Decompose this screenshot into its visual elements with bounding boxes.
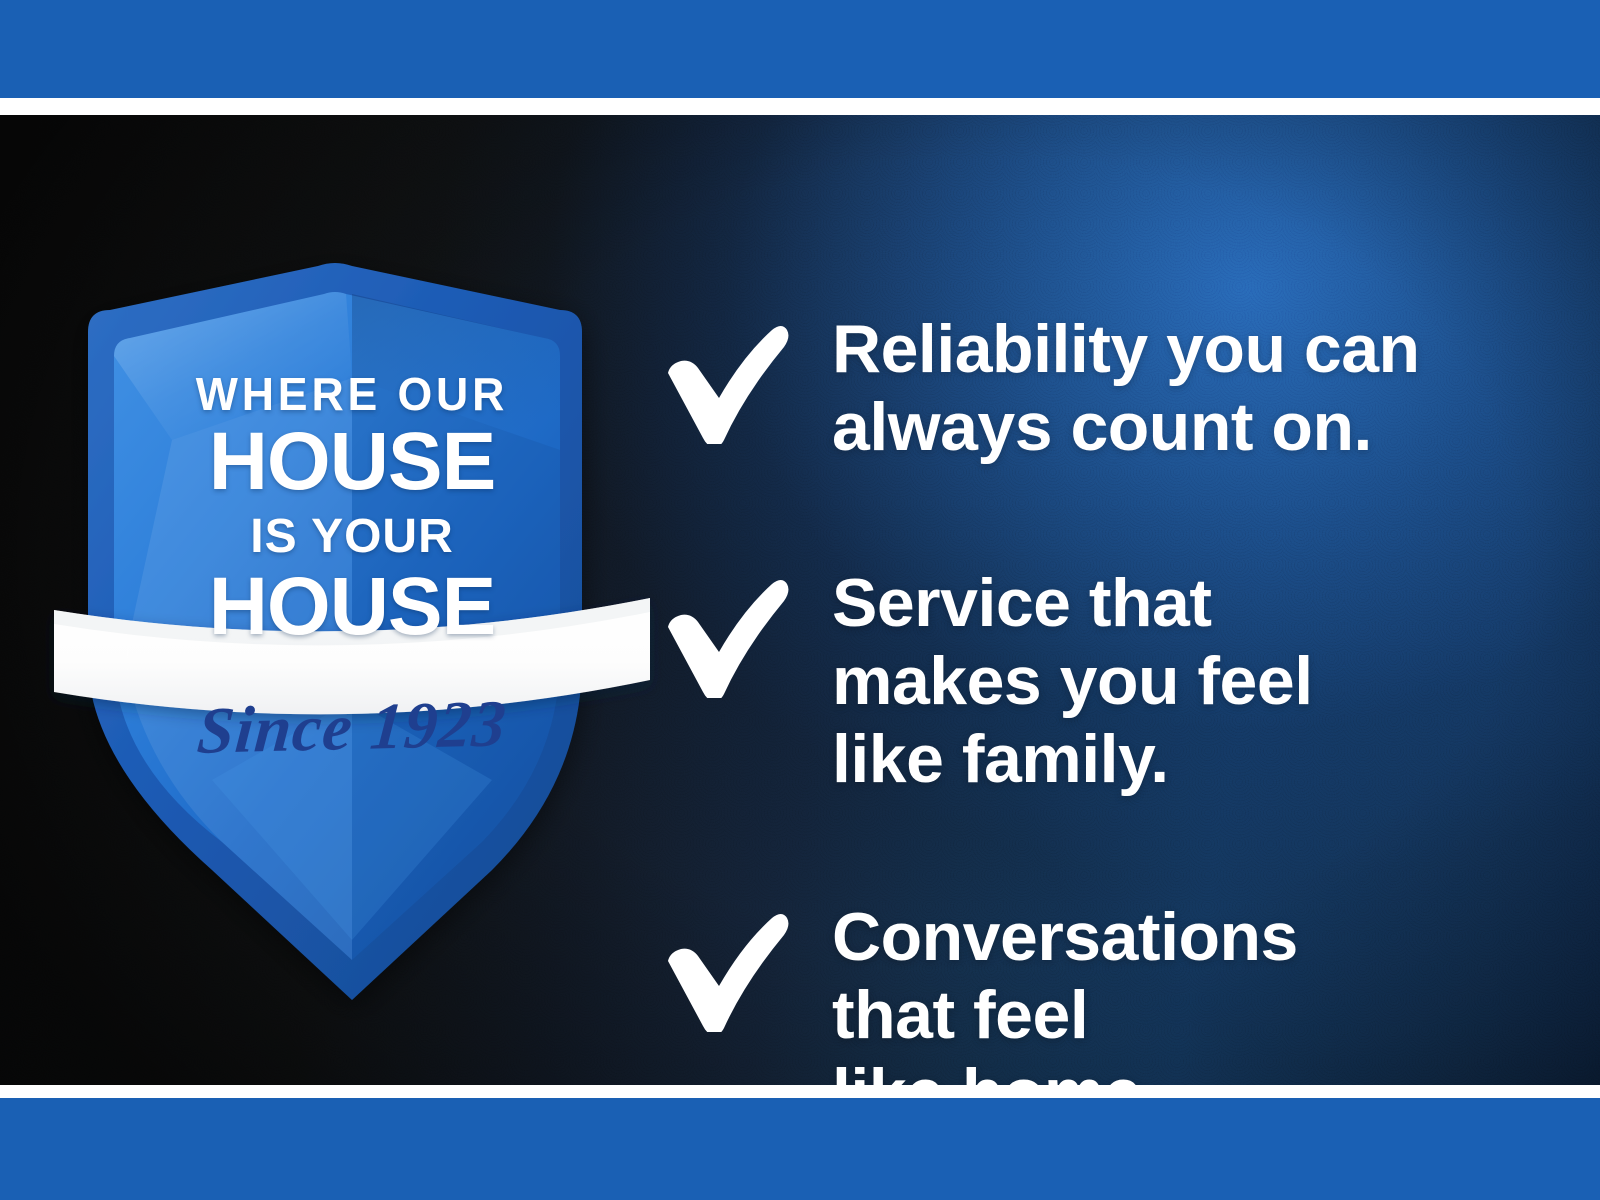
- benefit-text-2: Service that makes you feel like family.: [832, 564, 1540, 798]
- top-brand-band: [0, 0, 1600, 98]
- benefit-2-line-3: like family.: [832, 720, 1540, 798]
- benefit-2-line-1: Service that: [832, 564, 1540, 642]
- check-icon: [660, 570, 790, 698]
- promo-graphic-canvas: WHERE OUR HOUSE IS YOUR HOUSE Since 1923…: [0, 0, 1600, 1200]
- benefit-3-line-2: that feel: [832, 976, 1540, 1054]
- main-content-area: WHERE OUR HOUSE IS YOUR HOUSE Since 1923…: [0, 115, 1600, 1085]
- benefit-item-3: Conversations that feel like home.: [660, 898, 1540, 1085]
- benefits-list: Reliability you can always count on. Ser…: [660, 310, 1540, 1085]
- check-icon: [660, 316, 790, 444]
- benefit-3-line-3: like home.: [832, 1054, 1540, 1085]
- top-band-divider: [0, 98, 1600, 115]
- benefit-1-line-1: Reliability you can: [832, 310, 1540, 388]
- bottom-brand-band: [0, 1098, 1600, 1200]
- benefit-2-line-2: makes you feel: [832, 642, 1540, 720]
- benefit-text-1: Reliability you can always count on.: [832, 310, 1540, 466]
- benefit-1-line-2: always count on.: [832, 388, 1540, 466]
- check-icon: [660, 904, 790, 1032]
- bottom-band-divider: [0, 1085, 1600, 1098]
- benefit-item-2: Service that makes you feel like family.: [660, 564, 1540, 798]
- shield-graphic: [52, 260, 652, 950]
- benefit-3-line-1: Conversations: [832, 898, 1540, 976]
- benefit-item-1: Reliability you can always count on.: [660, 310, 1540, 466]
- shield-badge: WHERE OUR HOUSE IS YOUR HOUSE Since 1923: [52, 260, 652, 950]
- benefit-text-3: Conversations that feel like home.: [832, 898, 1540, 1085]
